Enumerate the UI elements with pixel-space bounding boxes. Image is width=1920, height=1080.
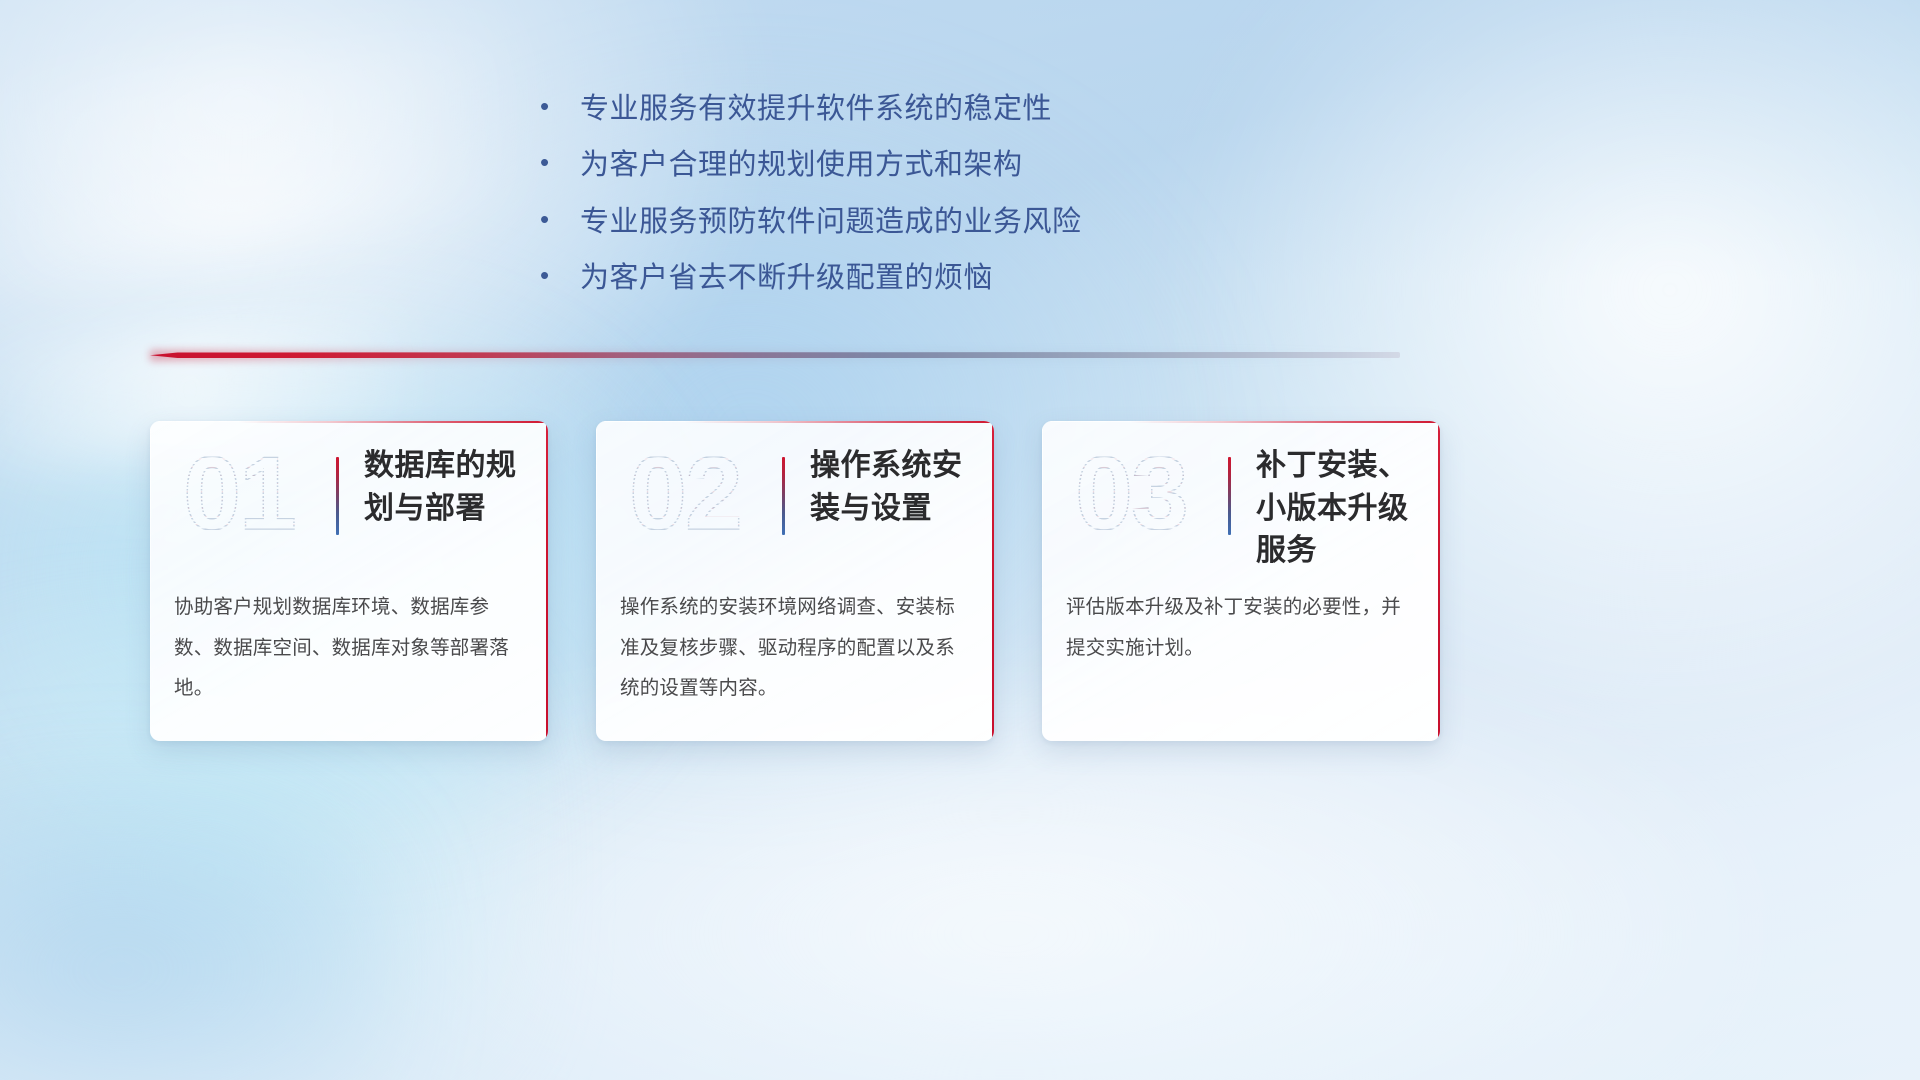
divider-bar [150, 352, 1400, 358]
card-number-ghost-overlay: 01 [164, 435, 314, 557]
card-title-divider [1228, 457, 1231, 535]
service-card[interactable]: 03 03 补丁安装、小版本升级服务 评估版本升级及补丁安装的必要性，并提交实施… [1042, 421, 1440, 741]
bullet-item: • 专业服务预防软件问题造成的业务风险 [540, 205, 1380, 240]
card-title-divider [782, 457, 785, 535]
section-divider [150, 350, 1400, 362]
service-card[interactable]: 01 01 数据库的规划与部署 协助客户规划数据库环境、数据库参数、数据库空间、… [150, 421, 548, 741]
bullet-item: • 为客户省去不断升级配置的烦恼 [540, 261, 1380, 296]
service-card[interactable]: 02 02 操作系统安装与设置 操作系统的安装环境网络调查、安装标准及复核步骤、… [596, 421, 994, 741]
card-title: 补丁安装、小版本升级服务 [1256, 445, 1432, 573]
card-header: 02 02 操作系统安装与设置 [596, 421, 994, 571]
bullet-text: 为客户合理的规划使用方式和架构 [580, 148, 1023, 183]
bullet-marker-icon: • [540, 262, 580, 288]
benefits-bullet-list: • 专业服务有效提升软件系统的稳定性 • 为客户合理的规划使用方式和架构 • 专… [540, 92, 1380, 318]
bullet-marker-icon: • [540, 149, 580, 175]
bullet-text: 为客户省去不断升级配置的烦恼 [580, 261, 993, 296]
card-title: 操作系统安装与设置 [810, 445, 986, 530]
card-number-ghost-overlay: 02 [610, 435, 760, 557]
service-card-list: 01 01 数据库的规划与部署 协助客户规划数据库环境、数据库参数、数据库空间、… [150, 421, 1770, 741]
card-title: 数据库的规划与部署 [364, 445, 540, 530]
card-number-ghost-overlay: 03 [1056, 435, 1206, 557]
card-header: 03 03 补丁安装、小版本升级服务 [1042, 421, 1440, 571]
card-body-text: 操作系统的安装环境网络调查、安装标准及复核步骤、驱动程序的配置以及系统的设置等内… [620, 587, 970, 709]
card-body-text: 评估版本升级及补丁安装的必要性，并提交实施计划。 [1066, 587, 1416, 668]
bullet-marker-icon: • [540, 206, 580, 232]
bullet-text: 专业服务预防软件问题造成的业务风险 [580, 205, 1082, 240]
bullet-marker-icon: • [540, 93, 580, 119]
bullet-item: • 专业服务有效提升软件系统的稳定性 [540, 92, 1380, 127]
card-header: 01 01 数据库的规划与部署 [150, 421, 548, 571]
card-body-text: 协助客户规划数据库环境、数据库参数、数据库空间、数据库对象等部署落地。 [174, 587, 524, 709]
card-title-divider [336, 457, 339, 535]
bullet-item: • 为客户合理的规划使用方式和架构 [540, 148, 1380, 183]
bullet-text: 专业服务有效提升软件系统的稳定性 [580, 92, 1052, 127]
